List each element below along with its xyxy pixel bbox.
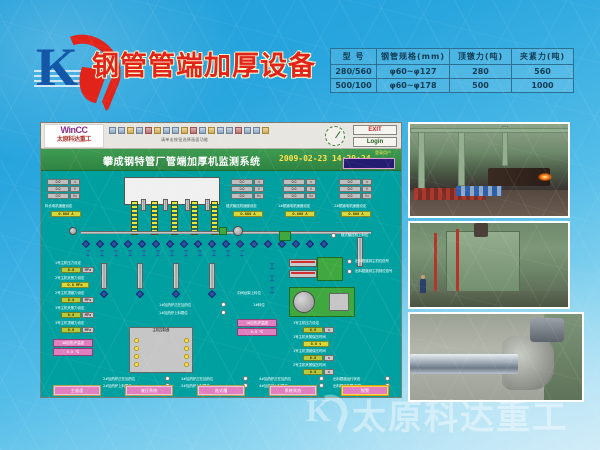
temp-label-right: 1#加热炉温度 [237,319,277,327]
roller [208,290,216,298]
status-lamp-label: 1#加热炉上料限位 [159,311,188,316]
meter-row: 0.0Hz [231,193,271,199]
meter-output-roller2: 0.000 A [341,211,371,217]
roller [172,290,180,298]
meter-row: 0.0s [339,179,379,185]
meter-row: 0.0Hz [283,193,323,199]
roller [278,240,286,248]
press-unit: MPa [82,297,94,303]
meter-unit: s [306,179,316,185]
cell-pipe-size: φ60~φ127 [377,65,450,79]
roller [208,240,216,248]
timing-label: 1号主机顶镦保压时间 [293,349,326,354]
hmi-toolbar-hint: 请单击按钮选择画面功能 [161,137,208,143]
meter-row: 0.0s [231,179,271,185]
page-title: 钢管管端加厚设备 [92,44,316,83]
user-field[interactable] [343,158,395,169]
photo-press-machine [408,221,570,309]
meter-value: 0.0 [231,193,253,199]
panel-lamp[interactable] [184,346,189,351]
spec-table-header-row: 型 号 钢管规格(mm) 顶镦力(吨) 夹紧力(吨) [331,49,574,65]
meter-unit: s [362,179,372,185]
panel-lamp[interactable] [134,338,139,343]
timing-value: 0.0 [303,369,323,375]
wincc-logo: WinCC 太原科达重工 [44,124,104,148]
status-lamp [331,233,336,238]
meter-output-silo: 0.000 A [51,211,81,217]
timing-label: 1号主机夹紧保压时间 [293,335,326,340]
user-icon[interactable] [244,127,251,134]
meter-output-roller1: 0.000 A [285,211,315,217]
meter-unit: Hz [362,193,372,199]
user-label: 登录用户 [375,150,391,156]
roller [250,240,258,248]
status-lamp [221,302,226,307]
meter-unit: s [254,179,264,185]
press-value: 0.0 [61,327,81,333]
valve-manifold [317,257,343,281]
meter-unit: Hz [70,193,80,199]
undo-icon[interactable] [163,127,170,134]
meter-unit: V [306,186,316,192]
timing-value: 0.0 [303,327,323,333]
wincc-vendor-text: 太原科达重工 [45,136,103,145]
press-value: 0.0 [61,297,81,303]
cell-model: 280/560 [331,65,377,79]
pump-motor [293,291,315,313]
temp-label-left: 4#加热炉温度 [53,339,93,347]
wincc-logo-text: WinCC [45,125,103,136]
factory-beam [410,128,570,133]
copy-icon[interactable] [145,127,152,134]
temp-value-left: 0.0 ℃ [53,348,93,356]
press-label: 3号主机顶镦力设定 [55,321,84,326]
report-icon[interactable] [217,127,224,134]
help-icon[interactable] [226,127,233,134]
roller [292,240,300,248]
timing-value: 0.0 [303,355,323,361]
stand: ⌶ [127,250,133,258]
meter-row: 0.0V [339,186,379,192]
red-pipework [456,229,459,291]
roller [124,240,132,248]
meter-row: 0.0V [283,186,323,192]
hmi-button-bar[interactable]: 主画面 液压系统 选式槽 系统状态 报警 [41,381,401,398]
press-value: 0.0 [61,267,81,273]
status-lamp-label: 链式输送机上料位 [341,233,368,238]
grid-icon[interactable] [190,127,197,134]
meter-label-roller2: 2#辊道电机速度设定 [334,204,366,209]
press-unit: MPa [82,312,94,318]
roller [100,290,108,298]
worker [420,279,426,293]
factory-floor [410,291,568,307]
stand: ⌶ [113,250,119,258]
spec-col-clamp-force: 夹紧力(吨) [511,49,573,65]
meter-unit: s [70,179,80,185]
press-label: 2号主机顶镦力设定 [55,291,84,296]
factory-beam [418,128,425,190]
press-label: 3号主机夹紧力设定 [55,306,84,311]
clamp-head [530,318,564,342]
glowing-pipe-end [538,173,552,181]
lock-icon[interactable] [253,127,260,134]
press-ram [474,223,488,237]
press-label: 1号主机压力设定 [55,261,81,266]
meter-label-roller1: 1#辊道电机速度设定 [278,204,310,209]
press-value: 0.0 MPa [61,282,89,288]
cell-upset-force: 500 [449,79,511,93]
alarm-icon[interactable] [199,127,206,134]
misc-label: 1#料位 [253,303,265,308]
stand: ⌶ [85,250,91,258]
meter-row: 0.0s [47,179,87,185]
meter-output-chain: 0.000 A [233,211,263,217]
temp-value-right: 0.0 ℃ [237,328,277,336]
meter-unit: V [362,186,372,192]
paste-icon[interactable] [154,127,161,134]
redo-icon[interactable] [172,127,179,134]
stand: ⌶ [269,263,275,271]
meter-label-chain: 链式输送机速度设定 [226,204,257,209]
panel-lamp[interactable] [184,354,189,359]
factory-beam [458,128,465,186]
main-cylinder [173,263,179,289]
timing-unit: s [324,327,334,333]
misc-label: 中间台架上料位 [237,291,261,296]
meter-value: 0.0 [47,186,69,192]
meter-value: 0.0 [231,186,253,192]
photo-upset-pipe-end [408,312,584,402]
heater-column [171,201,178,235]
hmi-title: 攀成钢特管厂管端加厚机监测系统 [103,153,261,168]
stand: ⌶ [239,250,245,258]
cooler-box [279,231,291,241]
stand: ⌶ [269,275,275,283]
hmi-process-diagram[interactable]: 0.0s 0.0V 0.0Hz 料仓电机速度设定 0.000 A 0.0s 0.… [41,171,401,398]
roller [306,240,314,248]
main-cylinder [101,263,107,289]
stand: ⌶ [183,250,189,258]
photo-upsetting-line [408,122,570,218]
roller [138,240,146,248]
cell-clamp-force: 1000 [511,79,573,93]
press-value: 0.0 [61,312,81,318]
meter-group-silo[interactable]: 0.0s 0.0V 0.0Hz [47,179,87,200]
status-lamp [221,310,226,315]
timing-value: 0.0 s [303,341,329,347]
exit-icon[interactable] [262,127,269,134]
heater-column [151,201,158,235]
main-cylinder [209,263,215,289]
roller [222,240,230,248]
cut-icon[interactable] [136,127,143,134]
hmi-screenshot: WinCC 太原科达重工 请单击按钮选择画面功能 EXIT Login 攀成钢特… [40,122,402,398]
spec-col-pipe-size: 钢管规格(mm) [377,49,450,65]
cell-model: 500/100 [331,79,377,93]
trend-icon[interactable] [208,127,215,134]
meter-unit: Hz [306,193,316,199]
lift-cylinder [185,199,190,211]
spec-col-upset-force: 顶镦力(吨) [449,49,511,65]
drive-motor [233,226,243,236]
timing-unit: s [324,355,334,361]
hmi-button-hydraulics[interactable]: 液压系统 [125,385,173,396]
meter-row: 0.0V [47,186,87,192]
operator-panel-title: 主机控制盘 [130,328,192,333]
timing-unit: s [324,369,334,375]
meter-value: 0.0 [283,193,305,199]
watermark-logo-letter: K [306,394,331,426]
hmi-titlebar: 攀成钢特管厂管端加厚机监测系统 2009-02-23 14:29:24 登录用户 [41,149,401,171]
meter-group-roller1[interactable]: 0.0s 0.0V 0.0Hz [283,179,323,200]
cell-clamp-force: 560 [511,65,573,79]
stand: ⌶ [141,250,147,258]
roller [152,240,160,248]
meter-unit: V [254,186,264,192]
cell-pipe-size: φ60~φ178 [377,79,450,93]
roller [236,240,244,248]
meter-label-silo: 料仓电机速度设定 [45,204,72,209]
hmi-button-selector[interactable]: 选式槽 [197,385,245,396]
stand: ⌶ [211,250,217,258]
press-unit: MPa [82,327,94,333]
roller [136,290,144,298]
meter-value: 0.0 [231,179,253,185]
steel-pipe [410,354,518,374]
stand: ⌶ [169,250,175,258]
heater-column [211,201,218,235]
panel-lamp[interactable] [134,354,139,359]
meter-row: 0.0Hz [47,193,87,199]
watermark-logo: K [304,394,350,434]
meter-value: 0.0 [339,179,361,185]
heater-column [131,201,138,235]
status-lamp [347,269,352,274]
meter-value: 0.0 [339,193,361,199]
meter-value: 0.0 [283,186,305,192]
print-icon[interactable] [127,127,134,134]
meter-value: 0.0 [47,179,69,185]
roller [96,240,104,248]
spec-col-model: 型 号 [331,49,377,65]
meter-value: 0.0 [339,186,361,192]
spec-table: 型 号 钢管规格(mm) 顶镦力(吨) 夹紧力(吨) 280/560 φ60~φ… [330,48,574,93]
valve-block [289,259,317,267]
status-lamp-label: 1#加热炉正在加热位 [159,303,191,308]
meter-row: 0.0Hz [339,193,379,199]
lift-cylinder [141,199,146,211]
lift-cylinder [163,199,168,211]
roller [82,240,90,248]
panel-lamp[interactable] [184,338,189,343]
watermark-swoosh-icon [309,392,353,434]
zoom-icon[interactable] [181,127,188,134]
gauge-icon [325,126,345,146]
hmi-button-alarm[interactable]: 报警 [341,385,389,396]
press-label: 2号主机夹紧力设定 [55,276,84,281]
panel-lamp[interactable] [184,362,189,367]
junction-box [219,227,227,235]
roller [194,240,202,248]
hmi-toolbar: WinCC 太原科达重工 请单击按钮选择画面功能 EXIT Login [41,123,401,149]
meter-group-chain[interactable]: 0.0s 0.0V 0.0Hz [231,179,271,200]
hmi-button-main-screen[interactable]: 主画面 [53,385,101,396]
roller [110,240,118,248]
red-pipework [434,233,437,293]
stand: ⌶ [225,250,231,258]
meter-value: 0.0 [283,179,305,185]
meter-unit: Hz [254,193,264,199]
stand: ⌶ [269,287,275,295]
stand: ⌶ [99,250,105,258]
main-cylinder [137,263,143,289]
operator-panel[interactable]: 主机控制盘 [129,327,193,373]
pump-panel [329,293,349,311]
table-row: 280/560 φ60~φ127 280 560 [331,65,574,79]
panel-lamp[interactable] [134,346,139,351]
blue-equipment [456,186,502,196]
save-icon[interactable] [118,127,125,134]
meter-value: 0.0 [47,193,69,199]
lift-cylinder [205,199,210,211]
exit-button[interactable]: EXIT [353,125,397,135]
drive-motor [69,227,77,235]
timing-label: 2号主机夹紧保压时间 [293,363,326,368]
panel-lamp[interactable] [134,362,139,367]
cell-upset-force: 280 [449,65,511,79]
meter-group-roller2[interactable]: 0.0s 0.0V 0.0Hz [339,179,379,200]
meter-row: 0.0s [283,179,323,185]
stand: ⌶ [197,250,203,258]
slide-page: K 钢管管端加厚设备 型 号 钢管规格(mm) 顶镦力(吨) 夹紧力(吨) 28… [0,0,600,450]
login-button[interactable]: Login [353,137,397,147]
page-header: K 钢管管端加厚设备 [0,30,330,108]
status-lamp [347,259,352,264]
hmi-button-system-status[interactable]: 系统状态 [269,385,317,396]
roller [264,240,272,248]
meter-unit: V [70,186,80,192]
roller [166,240,174,248]
settings-icon[interactable] [235,127,242,134]
hmi-toolbar-icons[interactable] [109,126,294,135]
stand: ⌶ [155,250,161,258]
meter-row: 0.0V [231,186,271,192]
status-lamp-label: 出料辊道到主机到位信号 [355,269,392,274]
roller [180,240,188,248]
timing-label: 1号主机压力设定 [293,321,319,326]
roller [320,240,328,248]
status-lamp-label: 出料辊道到主机位信号 [355,259,389,264]
table-row: 500/100 φ60~φ178 500 1000 [331,79,574,93]
heater-column [191,201,198,235]
press-unit: MPa [82,267,94,273]
open-icon[interactable] [109,127,116,134]
valve-block [289,270,317,278]
